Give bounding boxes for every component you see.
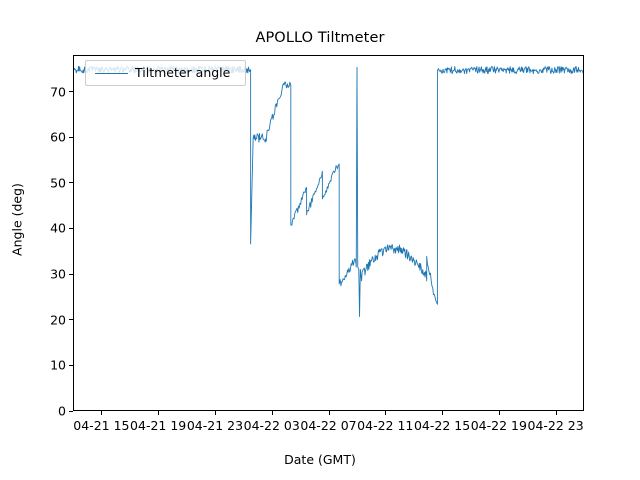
x-tick-label: 04-22 07 [300,418,356,433]
x-tick-label: 04-22 11 [357,418,413,433]
y-tick-label: 60 [50,130,66,145]
x-tick-mark [272,411,273,415]
x-tick-mark [442,411,443,415]
y-tick-label: 0 [58,404,66,419]
x-tick-label: 04-21 15 [73,418,129,433]
legend: Tiltmeter angle [85,60,246,86]
y-tick-label: 40 [50,221,66,236]
legend-label-tiltmeter-angle: Tiltmeter angle [135,65,230,80]
x-tick-mark [499,411,500,415]
y-tick-mark [69,182,73,183]
plot-area [73,55,584,411]
y-tick-mark [69,411,73,412]
x-tick-label: 04-21 19 [130,418,186,433]
y-tick-label: 20 [50,312,66,327]
x-tick-label: 04-22 15 [414,418,470,433]
y-tick-label: 70 [50,84,66,99]
legend-color-swatch-tiltmeter-angle [95,73,128,74]
chart-title: APOLLO Tiltmeter [0,30,640,46]
x-tick-label: 04-22 03 [244,418,300,433]
x-tick-label: 04-21 23 [187,418,243,433]
y-tick-mark [69,228,73,229]
x-tick-mark [385,411,386,415]
y-tick-label-group: 010203040506070 [0,0,66,480]
tiltmeter-line-plot [74,56,583,410]
y-tick-label: 50 [50,175,66,190]
x-axis-label: Date (GMT) [0,452,640,467]
y-tick-mark [69,274,73,275]
x-tick-mark [215,411,216,415]
figure-canvas: APOLLO Tiltmeter Angle (deg) 01020304050… [0,0,640,480]
y-tick-label: 10 [50,358,66,373]
x-tick-mark [158,411,159,415]
tiltmeter-angle-series [74,66,583,316]
y-tick-label: 30 [50,267,66,282]
x-tick-mark [556,411,557,415]
x-tick-label: 04-22 23 [528,418,584,433]
y-tick-mark [69,365,73,366]
x-tick-mark [101,411,102,415]
x-tick-label: 04-22 19 [471,418,527,433]
x-tick-mark [329,411,330,415]
y-tick-mark [69,137,73,138]
y-tick-mark [69,319,73,320]
y-tick-mark [69,91,73,92]
